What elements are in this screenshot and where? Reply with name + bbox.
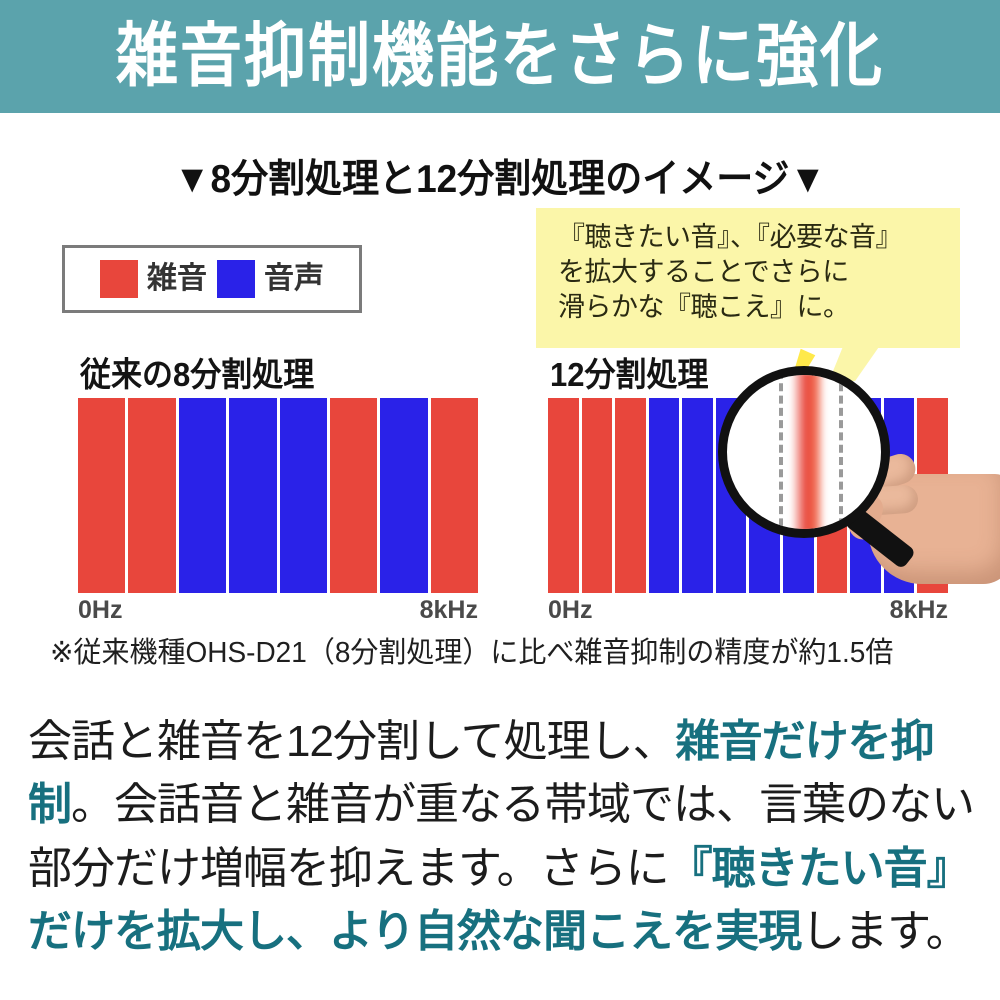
bar-noise-3 xyxy=(615,398,646,593)
chart-legend: 雑音 音声 xyxy=(62,245,362,313)
magnifier-icon xyxy=(718,366,988,546)
body-paragraph: 会話と雑音を12分割して処理し、雑音だけを抑制。会話音と雑音が重なる帯域では、言… xyxy=(28,710,978,963)
legend-label-voice: 音声 xyxy=(264,264,324,294)
legend-label-noise: 雑音 xyxy=(147,264,207,294)
axis-labels-right: 0Hz 8kHz xyxy=(548,598,948,623)
lens-dashed-line xyxy=(839,371,843,538)
body-segment-1: 会話と雑音を12分割して処理し、 xyxy=(28,717,676,766)
section-subtitle: ▼8分割処理と12分割処理のイメージ▼ xyxy=(0,146,1000,203)
bar-voice-2 xyxy=(128,398,175,593)
lens-magnified-band xyxy=(791,371,825,538)
bar-voice-6 xyxy=(330,398,377,593)
chart-conventional-8band: 従来の8分割処理 0Hz 8kHz xyxy=(78,358,478,633)
axis-label-left-min: 0Hz xyxy=(78,598,122,623)
axis-label-left-max: 8kHz xyxy=(420,598,478,623)
bar-noise-2 xyxy=(582,398,613,593)
bar-noise-8 xyxy=(431,398,478,593)
callout-text: 『聴きたい音』、『必要な音』 を拡大することでさらに 滑らかな『聴こえ』に。 xyxy=(558,220,946,325)
legend-item-noise: 雑音 xyxy=(100,260,207,298)
legend-item-voice: 音声 xyxy=(217,260,324,298)
bar-noise-7 xyxy=(380,398,427,593)
bar-noise-1 xyxy=(78,398,125,593)
bar-voice-4 xyxy=(229,398,276,593)
bar-group-left xyxy=(78,398,478,593)
footnote-text: ※従来機種OHS-D21（8分割処理）に比べ雑音抑制の精度が約1.5倍 xyxy=(50,638,960,667)
bar-voice-5 xyxy=(682,398,713,593)
chart-title-right: 12分割処理 xyxy=(550,358,708,391)
bar-noise-5 xyxy=(280,398,327,593)
chart-title-left: 従来の8分割処理 xyxy=(80,358,314,391)
lens-dashed-line xyxy=(779,371,783,538)
bar-voice-3 xyxy=(179,398,226,593)
axis-labels-left: 0Hz 8kHz xyxy=(78,598,478,623)
legend-swatch-noise xyxy=(100,260,138,298)
axis-label-right-max: 8kHz xyxy=(890,598,948,623)
bar-noise-1 xyxy=(548,398,579,593)
magnifier-lens xyxy=(718,366,890,538)
bar-voice-4 xyxy=(649,398,680,593)
legend-swatch-voice xyxy=(217,260,255,298)
body-segment-5: します。 xyxy=(801,907,969,956)
callout-bubble: 『聴きたい音』、『必要な音』 を拡大することでさらに 滑らかな『聴こえ』に。 xyxy=(536,208,960,348)
page-title: 雑音抑制機能をさらに強化 xyxy=(116,22,884,91)
header-banner: 雑音抑制機能をさらに強化 xyxy=(0,0,1000,113)
axis-label-right-min: 0Hz xyxy=(548,598,592,623)
